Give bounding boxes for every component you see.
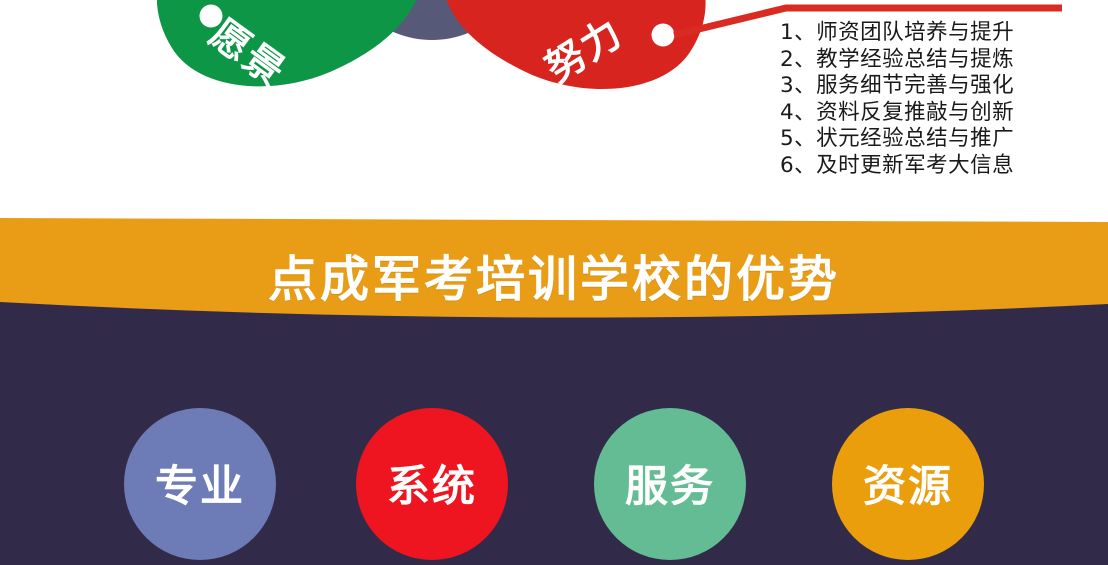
petal-vision-dot (200, 5, 223, 28)
feature-circle-resource[interactable]: 资源 (832, 408, 984, 560)
list-item: 2、教学经验总结与提炼 (780, 47, 1100, 74)
petal-vision-shape (157, 0, 420, 86)
feature-circle-system[interactable]: 系统 (356, 408, 508, 560)
list-item: 4、资料反复推敲与创新 (780, 100, 1100, 127)
section-banner: 点成军考培训学校的优势 (0, 208, 1108, 338)
list-item: 3、服务细节完善与强化 (780, 73, 1100, 100)
feature-circle-service[interactable]: 服务 (594, 408, 746, 560)
list-item: 6、及时更新军考大信息 (780, 153, 1100, 180)
top-graphic-area: 愿景 努力 1、师资团队培养与提升 2、教学经验总结与提炼 3、服务细节完善与强… (0, 0, 1108, 218)
feature-circle-professional[interactable]: 专业 (124, 408, 276, 560)
feature-circle-label: 专业 (155, 452, 245, 514)
banner-title: 点成军考培训学校的优势 (0, 240, 1108, 311)
advantage-list: 1、师资团队培养与提升 2、教学经验总结与提炼 3、服务细节完善与强化 4、资料… (780, 20, 1100, 179)
petal-effort-dot (652, 24, 675, 47)
feature-circle-label: 资源 (863, 452, 953, 514)
feature-circle-row: 专业 系统 服务 资源 (0, 408, 1108, 565)
list-item: 1、师资团队培养与提升 (780, 20, 1100, 47)
feature-circle-label: 服务 (625, 452, 715, 514)
list-item: 5、状元经验总结与推广 (780, 126, 1100, 153)
feature-circle-label: 系统 (387, 452, 477, 514)
